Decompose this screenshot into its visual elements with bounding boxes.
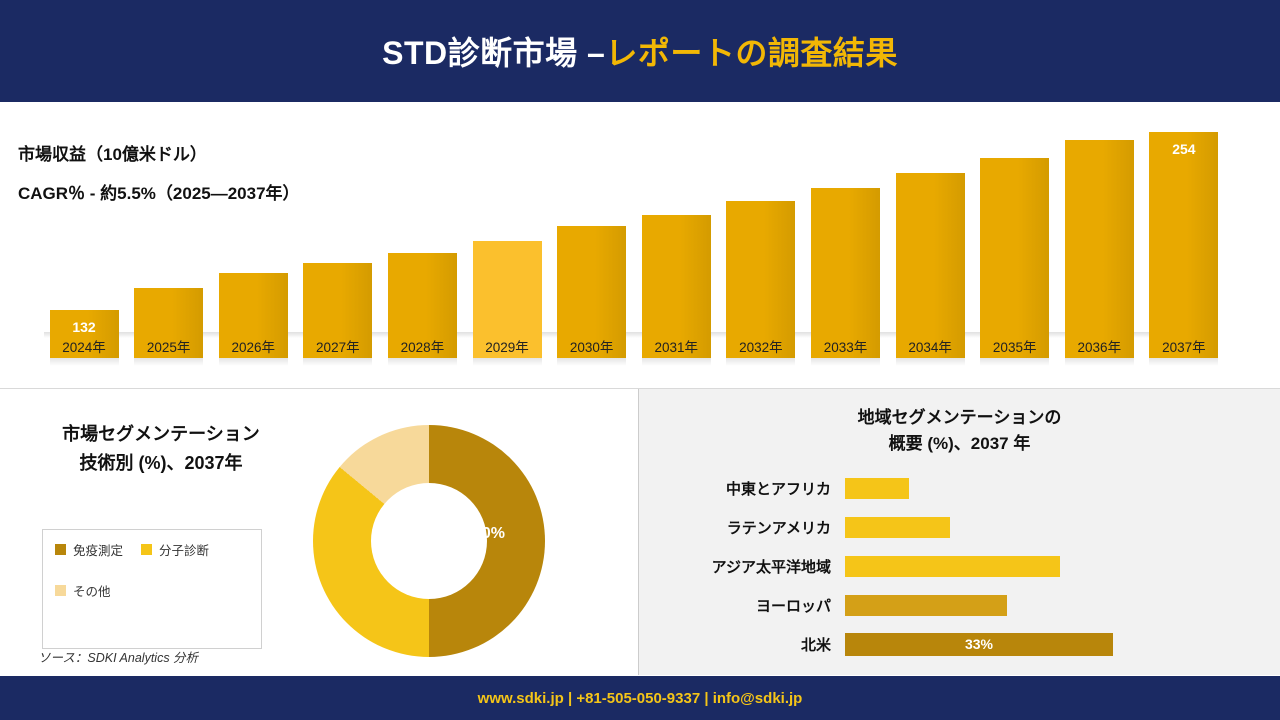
bar-column xyxy=(213,132,293,358)
axis-tick-label: 2024年 xyxy=(44,336,124,362)
region-bar-track xyxy=(845,547,1265,586)
region-title-line-2: 概要 (%)、2037 年 xyxy=(639,431,1280,457)
bar-column xyxy=(382,132,462,358)
donut-hole xyxy=(371,483,487,599)
region-bar xyxy=(845,595,1007,616)
region-bar-label: ヨーロッパ xyxy=(655,595,845,616)
bar-column xyxy=(298,132,378,358)
axis-tick-label: 2033年 xyxy=(805,336,885,362)
bar-column xyxy=(805,132,885,358)
axis-tick-label: 2031年 xyxy=(636,336,716,362)
slide-root: STD診断市場 –レポートの調査結果 市場収益（10億米ドル） CAGR％ - … xyxy=(0,0,1280,720)
bar-column xyxy=(467,132,547,358)
region-bar-label: 中東とアフリカ xyxy=(655,478,845,499)
region-bar-track xyxy=(845,586,1265,625)
donut-chart: 50% xyxy=(313,425,553,665)
footer-contact: www.sdki.jp | +81-505-050-9337 | info@sd… xyxy=(478,690,803,707)
region-bar-label: ラテンアメリカ xyxy=(655,517,845,538)
region-panel: 地域セグメンテーションの 概要 (%)、2037 年 中東とアフリカラテンアメリ… xyxy=(639,389,1280,675)
revenue-axis-labels: 2024年2025年2026年2027年2028年2029年2030年2031年… xyxy=(44,336,1224,362)
revenue-bars: 132254 xyxy=(44,132,1224,358)
legend-label: その他 xyxy=(73,581,111,600)
region-bar-row: 中東とアフリカ xyxy=(655,469,1265,508)
axis-tick-label: 2034年 xyxy=(890,336,970,362)
axis-tick-label: 2029年 xyxy=(467,336,547,362)
region-bar: 33% xyxy=(845,633,1113,656)
region-bar xyxy=(845,517,950,538)
bar-column xyxy=(1059,132,1139,358)
region-title-line-1: 地域セグメンテーションの xyxy=(639,405,1280,431)
axis-tick-label: 2026年 xyxy=(213,336,293,362)
revenue-bar xyxy=(1065,140,1134,358)
region-bar-track xyxy=(845,508,1265,547)
region-bar-track: 33% xyxy=(845,625,1265,664)
header-banner: STD診断市場 –レポートの調査結果 xyxy=(0,0,1280,102)
revenue-bar xyxy=(811,188,880,358)
region-bar-row: ヨーロッパ xyxy=(655,586,1265,625)
region-title: 地域セグメンテーションの 概要 (%)、2037 年 xyxy=(639,405,1280,458)
source-note: ソース：SDKI Analytics 分析 xyxy=(38,647,198,666)
bar-column xyxy=(129,132,209,358)
segmentation-title-line-2: 技術別 (%)、2037年 xyxy=(26,449,296,478)
bar-value-label: 254 xyxy=(1149,141,1218,157)
region-bar-label: 北米 xyxy=(655,634,845,655)
bar-column xyxy=(890,132,970,358)
legend-label: 分子診断 xyxy=(159,540,209,559)
region-bar xyxy=(845,556,1060,577)
region-bars: 中東とアフリカラテンアメリカアジア太平洋地域ヨーロッパ北米33% xyxy=(655,469,1265,665)
bar-column xyxy=(552,132,632,358)
segmentation-legend: 免疫測定 分子診断 その他 xyxy=(42,529,262,649)
region-bar-row: アジア太平洋地域 xyxy=(655,547,1265,586)
revenue-bar xyxy=(896,173,965,358)
region-bar-row: 北米33% xyxy=(655,625,1265,664)
legend-row-top: 免疫測定 分子診断 xyxy=(55,540,249,559)
bar-column xyxy=(975,132,1055,358)
bar-column: 132 xyxy=(44,132,124,358)
bar-column xyxy=(721,132,801,358)
donut-value-label: 50% xyxy=(473,525,505,543)
revenue-bar xyxy=(726,201,795,358)
legend-item-immunoassay: 免疫測定 xyxy=(55,540,123,559)
axis-tick-label: 2037年 xyxy=(1144,336,1224,362)
page-title: STD診断市場 –レポートの調査結果 xyxy=(382,28,898,74)
region-bar xyxy=(845,478,909,499)
axis-tick-label: 2032年 xyxy=(721,336,801,362)
axis-tick-label: 2036年 xyxy=(1059,336,1139,362)
legend-swatch-icon xyxy=(55,585,66,596)
revenue-chart-panel: 市場収益（10億米ドル） CAGR％ - 約5.5%（2025―2037年） 1… xyxy=(0,104,1280,389)
revenue-bar: 254 xyxy=(1149,132,1218,358)
footer-banner: www.sdki.jp | +81-505-050-9337 | info@sd… xyxy=(0,676,1280,720)
segmentation-title-line-1: 市場セグメンテーション xyxy=(26,420,296,449)
page-title-accent: レポートの調査結果 xyxy=(605,35,898,71)
legend-swatch-icon xyxy=(141,544,152,555)
legend-item-molecular: 分子診断 xyxy=(141,540,209,559)
legend-swatch-icon xyxy=(55,544,66,555)
region-bar-track xyxy=(845,469,1265,508)
axis-tick-label: 2025年 xyxy=(129,336,209,362)
revenue-bar xyxy=(980,158,1049,358)
segmentation-panel: 市場セグメンテーション 技術別 (%)、2037年 免疫測定 分子診断 その他 xyxy=(0,389,639,675)
axis-tick-label: 2027年 xyxy=(298,336,378,362)
segmentation-title: 市場セグメンテーション 技術別 (%)、2037年 xyxy=(26,420,296,478)
region-bar-row: ラテンアメリカ xyxy=(655,508,1265,547)
bar-column xyxy=(636,132,716,358)
axis-tick-label: 2028年 xyxy=(382,336,462,362)
page-title-main: STD診断市場 – xyxy=(382,35,605,71)
bar-value-label: 132 xyxy=(50,319,119,335)
axis-tick-label: 2030年 xyxy=(552,336,632,362)
axis-tick-label: 2035年 xyxy=(975,336,1055,362)
legend-label: 免疫測定 xyxy=(73,540,123,559)
region-bar-value-label: 33% xyxy=(845,633,1113,656)
donut-ring xyxy=(313,425,545,657)
legend-item-other: その他 xyxy=(55,581,111,600)
region-bar-label: アジア太平洋地域 xyxy=(655,556,845,577)
legend-row-bottom: その他 xyxy=(55,581,249,600)
bar-column: 254 xyxy=(1144,132,1224,358)
